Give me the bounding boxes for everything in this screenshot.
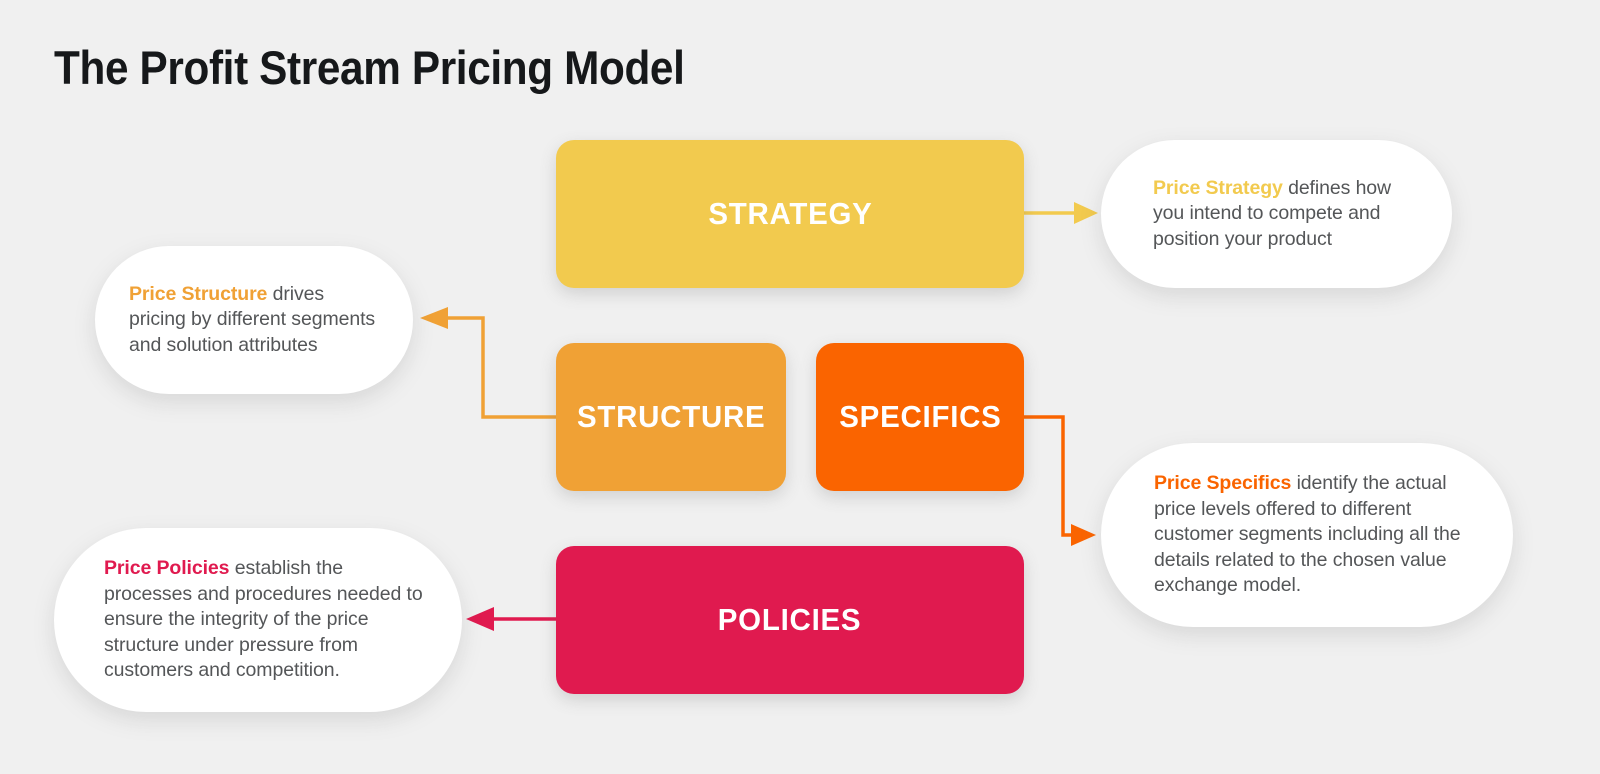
box-structure-label: STRUCTURE <box>577 399 765 435</box>
callout-specifics-text: Price Specifics identify the actual pric… <box>1154 471 1479 599</box>
box-specifics-label: SPECIFICS <box>839 399 1001 435</box>
callout-structure-text: Price Structure drives pricing by differ… <box>129 282 383 359</box>
callout-strategy-text: Price Strategy defines how you intend to… <box>1153 176 1412 253</box>
callout-policies-text: Price Policies establish the processes a… <box>104 556 426 684</box>
strategy-arrow <box>1024 202 1098 224</box>
box-specifics[interactable]: SPECIFICS <box>816 343 1024 491</box>
callout-specifics-lead: Price Specifics <box>1154 472 1291 494</box>
box-structure[interactable]: STRUCTURE <box>556 343 786 491</box>
box-strategy-label: STRATEGY <box>708 196 872 232</box>
callout-strategy-lead: Price Strategy <box>1153 177 1283 199</box>
page-title: The Profit Stream Pricing Model <box>54 40 684 95</box>
callout-structure: Price Structure drives pricing by differ… <box>95 246 413 394</box>
policies-arrow <box>466 607 556 631</box>
callout-structure-lead: Price Structure <box>129 283 267 305</box>
pricing-model-diagram: The Profit Stream Pricing Model STRATEGY… <box>0 0 1600 774</box>
box-policies-label: POLICIES <box>718 602 862 638</box>
box-policies[interactable]: POLICIES <box>556 546 1024 694</box>
box-strategy[interactable]: STRATEGY <box>556 140 1024 288</box>
callout-strategy: Price Strategy defines how you intend to… <box>1101 140 1452 288</box>
callout-policies-lead: Price Policies <box>104 557 229 579</box>
callout-specifics: Price Specifics identify the actual pric… <box>1101 443 1513 627</box>
structure-arrow <box>420 307 556 417</box>
specifics-arrow <box>1024 417 1096 546</box>
callout-policies: Price Policies establish the processes a… <box>54 528 462 712</box>
